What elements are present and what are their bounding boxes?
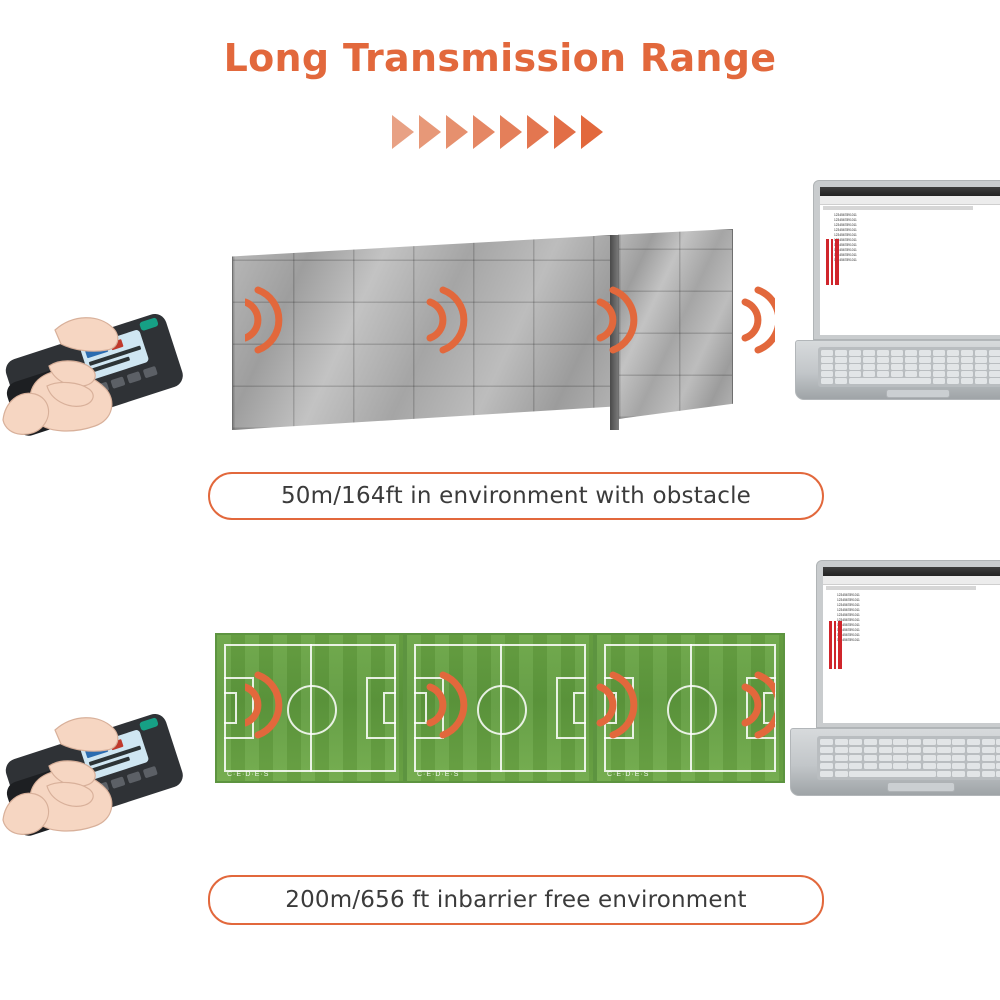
keyboard-key — [863, 357, 875, 363]
keyboard-key — [947, 357, 959, 363]
keyboard-key — [908, 747, 921, 753]
keyboard-key — [937, 747, 950, 753]
keyboard-key — [933, 378, 945, 384]
keyboard-key — [877, 371, 889, 377]
table-row: 1234567891011 — [834, 223, 857, 227]
keyboard-key — [849, 755, 862, 761]
keyboard-key — [835, 378, 847, 384]
table-row: 1234567891011 — [834, 228, 857, 232]
keyboard-key — [835, 739, 848, 745]
keyboard-key — [975, 364, 987, 370]
scanner-software-window: 1234567891011 1234567891011 123456789101… — [820, 187, 1000, 335]
keyboard-key — [952, 771, 965, 777]
keyboard-key — [893, 755, 906, 761]
table-row: 1234567891011 — [834, 213, 857, 217]
laptop-base — [790, 728, 1000, 796]
keyboard-key — [947, 350, 959, 356]
table-row: 1234567891011 — [837, 603, 860, 607]
keyboard-key — [967, 771, 980, 777]
keyboard-key — [893, 747, 906, 753]
keyboard-key — [835, 371, 847, 377]
hand-with-scanner — [0, 270, 215, 470]
keyboard-key — [877, 350, 889, 356]
keyboard-key — [835, 357, 847, 363]
keyboard-key — [877, 357, 889, 363]
page-title: Long Transmission Range — [0, 36, 1000, 80]
signal-arc-group — [245, 665, 775, 745]
keyboard-key — [952, 763, 965, 769]
keyboard-key — [989, 357, 1000, 363]
keyboard-key — [961, 357, 973, 363]
keyboard-key — [982, 739, 995, 745]
keyboard-key — [835, 747, 848, 753]
hand-with-scanner — [0, 670, 215, 870]
toolbar-strip — [826, 586, 976, 590]
keyboard-key — [937, 755, 950, 761]
caption-obstacle: 50m/164ft in environment with obstacle — [208, 472, 824, 520]
keyboard-key — [820, 755, 833, 761]
keyboard-key — [863, 364, 875, 370]
keyboard-key — [879, 763, 892, 769]
laptop-touchpad — [887, 782, 955, 792]
keyboard-key — [877, 364, 889, 370]
keyboard-key — [967, 747, 980, 753]
keyboard-key — [821, 350, 833, 356]
keyboard-key — [967, 755, 980, 761]
keyboard-key — [933, 350, 945, 356]
keyboard-key — [879, 755, 892, 761]
keyboard-key — [923, 739, 936, 745]
scanner-software-window: 1234567891011 1234567891011 123456789101… — [823, 567, 1000, 723]
chevron-right-icon — [392, 115, 414, 149]
chevron-right-icon — [527, 115, 549, 149]
chevron-right-icon — [581, 115, 603, 149]
keyboard-key — [937, 763, 950, 769]
keyboard-key — [821, 364, 833, 370]
chevron-right-icon — [554, 115, 576, 149]
barcode-red-line — [835, 239, 839, 285]
keyboard-key — [947, 364, 959, 370]
keyboard-key — [849, 771, 936, 777]
keyboard-key — [947, 378, 959, 384]
keyboard-key — [982, 763, 995, 769]
barcode-red-line — [829, 621, 832, 669]
keyboard-key — [975, 350, 987, 356]
window-titlebar — [823, 567, 1000, 576]
keyboard-key — [923, 763, 936, 769]
keyboard-key — [835, 763, 848, 769]
keyboard-key — [908, 763, 921, 769]
keyboard-key — [849, 747, 862, 753]
keyboard-key — [820, 739, 833, 745]
laptop-screen: 1234567891011 1234567891011 123456789101… — [823, 567, 1000, 723]
keyboard-key — [961, 371, 973, 377]
chevron-right-icon — [446, 115, 468, 149]
keyboard-key — [820, 747, 833, 753]
keyboard-key — [849, 739, 862, 745]
pitch-label: C·E·D·E·S — [227, 771, 269, 778]
keyboard-key — [821, 357, 833, 363]
keyboard-key — [835, 755, 848, 761]
window-menubar — [823, 576, 1000, 585]
keyboard-key — [864, 747, 877, 753]
toolbar-strip — [823, 206, 973, 210]
keyboard-key — [849, 763, 862, 769]
keyboard-key — [989, 378, 1000, 384]
keyboard-key — [919, 364, 931, 370]
keyboard-key — [919, 357, 931, 363]
keyboard-key — [919, 350, 931, 356]
keyboard-key — [982, 771, 995, 777]
keyboard-key — [821, 371, 833, 377]
keyboard-key — [933, 371, 945, 377]
keyboard-key — [923, 755, 936, 761]
laptop-lid: 1234567891011 1234567891011 123456789101… — [816, 560, 1000, 728]
keyboard-key — [905, 357, 917, 363]
keyboard-key — [849, 357, 861, 363]
keyboard-key — [989, 350, 1000, 356]
chevron-right-icon — [500, 115, 522, 149]
pitch-label: C·E·D·E·S — [417, 771, 459, 778]
table-row: 1234567891011 — [834, 218, 857, 222]
table-row: 1234567891011 — [837, 593, 860, 597]
chevron-right-icon — [419, 115, 441, 149]
keyboard-key — [891, 350, 903, 356]
pitch-label: C·E·D·E·S — [607, 771, 649, 778]
window-menubar — [820, 196, 1000, 205]
laptop-receiver: 1234567891011 1234567891011 123456789101… — [790, 560, 1000, 830]
keyboard-key — [863, 371, 875, 377]
keyboard-key — [891, 371, 903, 377]
keyboard-key — [952, 739, 965, 745]
keyboard-key — [989, 364, 1000, 370]
laptop-receiver: 1234567891011 1234567891011 123456789101… — [795, 180, 1000, 440]
keyboard-key — [982, 755, 995, 761]
keyboard-key — [961, 364, 973, 370]
keyboard-key — [879, 747, 892, 753]
keyboard-key — [937, 771, 950, 777]
laptop-screen: 1234567891011 1234567891011 123456789101… — [820, 187, 1000, 335]
keyboard-key — [835, 771, 848, 777]
keyboard-key — [893, 739, 906, 745]
keyboard-key — [996, 763, 1000, 769]
keyboard-key — [849, 350, 861, 356]
keyboard-key — [908, 739, 921, 745]
keyboard-key — [996, 755, 1000, 761]
section-obstacle: 1234567891011 1234567891011 123456789101… — [0, 170, 1000, 530]
keyboard-key — [989, 371, 1000, 377]
keyboard-key — [947, 371, 959, 377]
keyboard-key — [975, 378, 987, 384]
keyboard-key — [967, 763, 980, 769]
keyboard-key — [879, 739, 892, 745]
keyboard-key — [893, 763, 906, 769]
keyboard-key — [905, 350, 917, 356]
window-titlebar — [820, 187, 1000, 196]
keyboard-key — [919, 371, 931, 377]
keyboard-key — [864, 739, 877, 745]
keyboard-key — [982, 747, 995, 753]
section-barrier-free: C·E·D·E·S C·E·D·E·S C·E·D·E·S — [0, 560, 1000, 960]
table-row: 1234567891011 — [834, 233, 857, 237]
barcode-red-line — [831, 239, 833, 285]
chevron-right-icon — [473, 115, 495, 149]
keyboard-key — [821, 378, 833, 384]
laptop-touchpad — [886, 389, 950, 398]
laptop-keyboard — [818, 347, 1000, 387]
signal-arc-group — [245, 280, 775, 360]
keyboard-key — [996, 739, 1000, 745]
keyboard-key — [952, 755, 965, 761]
keyboard-key — [996, 747, 1000, 753]
barcode-red-line — [838, 621, 842, 669]
pitch-goal-box — [224, 692, 237, 724]
keyboard-key — [863, 350, 875, 356]
keyboard-key — [835, 364, 847, 370]
keyboard-key — [864, 763, 877, 769]
table-row: 1234567891011 — [837, 613, 860, 617]
caption-barrier-free: 200m/656 ft inbarrier free environment — [208, 875, 824, 925]
chevron-arrow-row — [0, 110, 1000, 154]
keyboard-key — [849, 364, 861, 370]
table-row: 1234567891011 — [837, 598, 860, 602]
keyboard-key — [905, 364, 917, 370]
keyboard-key — [835, 350, 847, 356]
keyboard-key — [891, 357, 903, 363]
laptop-keyboard — [817, 736, 1000, 780]
laptop-base — [795, 340, 1000, 400]
keyboard-key — [933, 357, 945, 363]
laptop-lid: 1234567891011 1234567891011 123456789101… — [813, 180, 1000, 340]
keyboard-key — [975, 357, 987, 363]
keyboard-key — [975, 371, 987, 377]
table-row: 1234567891011 — [837, 608, 860, 612]
keyboard-key — [820, 771, 833, 777]
keyboard-key — [937, 739, 950, 745]
keyboard-key — [961, 378, 973, 384]
keyboard-key — [864, 755, 877, 761]
barcode-red-line — [834, 621, 836, 669]
keyboard-key — [905, 371, 917, 377]
keyboard-key — [923, 747, 936, 753]
keyboard-key — [849, 378, 931, 384]
keyboard-key — [967, 739, 980, 745]
keyboard-key — [933, 364, 945, 370]
barcode-red-line — [826, 239, 829, 285]
keyboard-key — [820, 763, 833, 769]
keyboard-key — [908, 755, 921, 761]
keyboard-key — [961, 350, 973, 356]
keyboard-key — [849, 371, 861, 377]
keyboard-key — [952, 747, 965, 753]
keyboard-key — [996, 771, 1000, 777]
keyboard-key — [891, 364, 903, 370]
